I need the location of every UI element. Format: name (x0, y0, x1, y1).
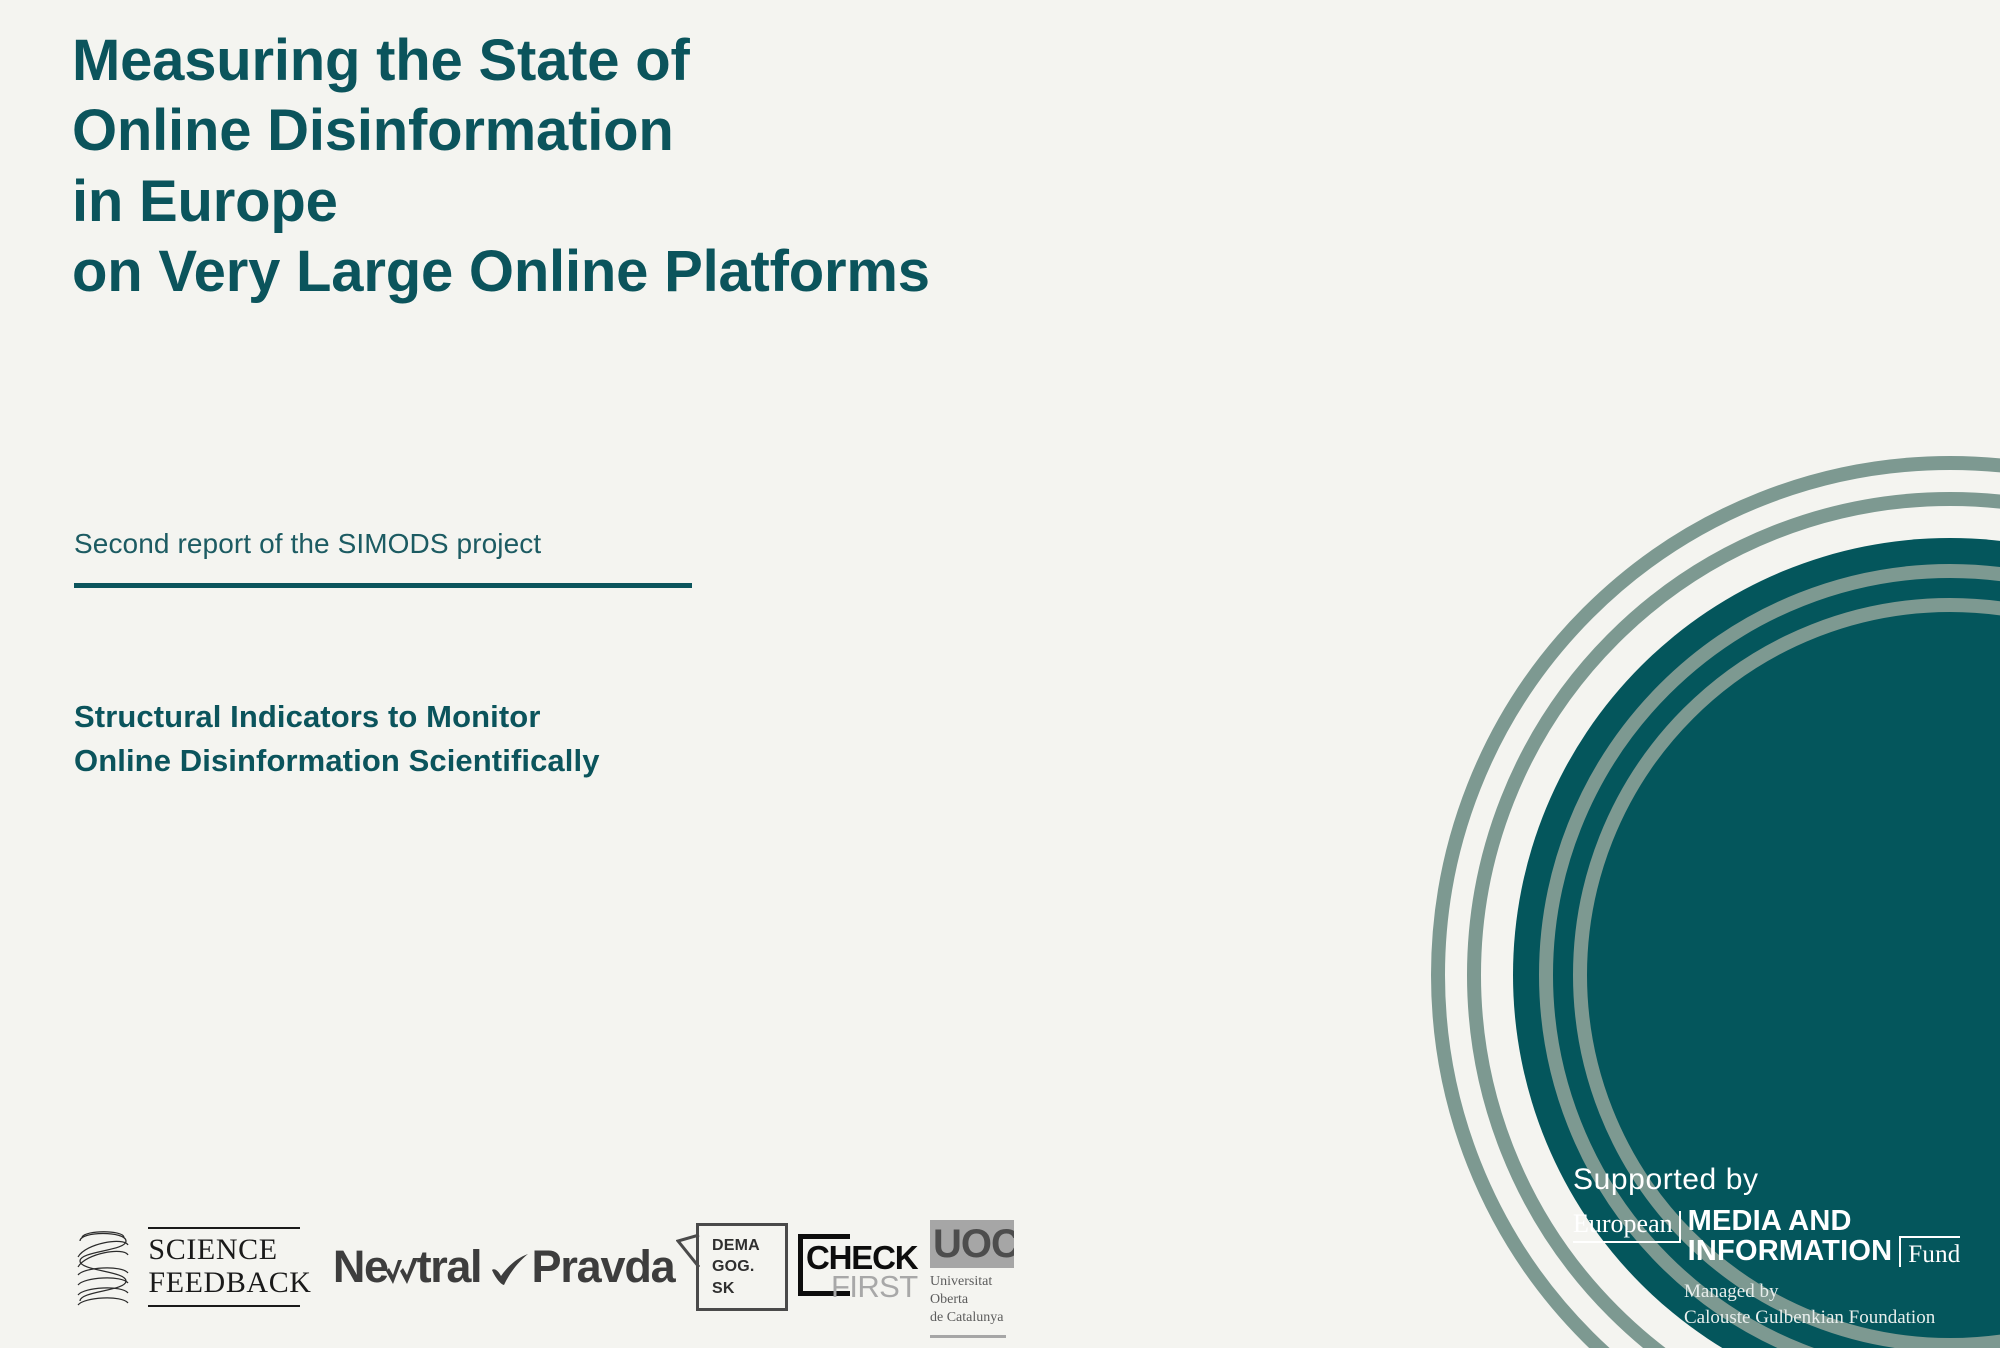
demagog-speech-box: DEMA GOG. SK (696, 1223, 788, 1311)
report-divider-rule (74, 583, 692, 588)
uoc-line-2: Oberta (930, 1291, 1022, 1309)
checkfirst-line-2: FIRST (831, 1269, 918, 1305)
title-line-4: on Very Large Online Platforms (72, 237, 1222, 307)
uoc-fullname: Universitat Oberta de Catalunya (930, 1273, 1022, 1327)
pravda-text: Pravda (532, 1241, 675, 1293)
managed-by-block: Managed by Calouste Gulbenkian Foundatio… (1562, 1279, 1982, 1330)
sf-line-2: FEEDBACK (148, 1267, 311, 1299)
emif-european: European (1573, 1211, 1681, 1243)
report-label: Second report of the SIMODS project (74, 527, 694, 561)
demagog-wordmark: DEMA GOG. SK (712, 1235, 760, 1298)
check-swoosh-icon (492, 1254, 530, 1286)
speech-bubble-icon (676, 1234, 700, 1270)
emif-main: MEDIA AND INFORMATION Fund (1688, 1206, 1961, 1267)
report-cover-page: Measuring the State of Online Disinforma… (0, 0, 2000, 1348)
subtitle-line-1: Structural Indicators to Monitor (74, 695, 974, 739)
sf-rule-bottom (148, 1305, 300, 1307)
newtral-wordmark: Ne tral (333, 1241, 481, 1293)
uoc-rule (930, 1335, 1006, 1338)
demagog-line-3: SK (712, 1278, 760, 1299)
logo-newtral: Ne tral (322, 1208, 492, 1326)
uoc-line-3: de Catalunya (930, 1309, 1022, 1327)
sf-line-1: SCIENCE (148, 1234, 311, 1266)
title-line-1: Measuring the State of (72, 26, 1222, 96)
demagog-line-2: GOG. (712, 1256, 760, 1277)
emif-media-and: MEDIA AND (1688, 1206, 1961, 1236)
supported-by-block: Supported by European MEDIA AND INFORMAT… (1562, 1163, 1982, 1330)
report-label-block: Second report of the SIMODS project (74, 527, 694, 588)
emif-logo: European MEDIA AND INFORMATION Fund (1562, 1206, 1982, 1267)
emif-row-2: INFORMATION Fund (1688, 1236, 1961, 1267)
subtitle-block: Structural Indicators to Monitor Online … (74, 695, 974, 783)
newtral-part-2: tral (417, 1241, 481, 1293)
science-feedback-wordmark: SCIENCE FEEDBACK (148, 1227, 311, 1307)
title-block: Measuring the State of Online Disinforma… (72, 26, 1222, 308)
title-line-3: in Europe (72, 167, 1222, 237)
emif-fund: Fund (1899, 1236, 1960, 1267)
pravda-wordmark: Pravda (492, 1241, 675, 1293)
checkfirst-wordmark: CHECK FIRST (798, 1230, 922, 1304)
logo-uoc: UOC Universitat Oberta de Catalunya (930, 1208, 1022, 1326)
page-title: Measuring the State of Online Disinforma… (72, 26, 1222, 308)
sf-rule-top (148, 1227, 300, 1229)
helix-mark-icon (72, 1225, 134, 1309)
emif-information: INFORMATION (1688, 1236, 1893, 1266)
logo-demagog-sk: DEMA GOG. SK (674, 1208, 790, 1326)
managed-by-label: Managed by (1684, 1279, 1982, 1304)
subtitle-line-2: Online Disinformation Scientifically (74, 739, 974, 783)
double-check-icon (385, 1256, 419, 1286)
newtral-part-1: Ne (333, 1241, 388, 1293)
uoc-wordmark: UOC Universitat Oberta de Catalunya (930, 1220, 1022, 1338)
logo-checkfirst: CHECK FIRST (790, 1208, 930, 1326)
uoc-line-1: Universitat (930, 1273, 1022, 1291)
managed-by-foundation: Calouste Gulbenkian Foundation (1684, 1305, 1982, 1330)
partner-logo-strip: SCIENCE FEEDBACK Ne tral Pravd (62, 1206, 1022, 1326)
supported-by-label: Supported by (1562, 1163, 1982, 1197)
demagog-line-1: DEMA (712, 1235, 760, 1256)
logo-science-feedback: SCIENCE FEEDBACK (62, 1208, 322, 1326)
logo-pravda: Pravda (492, 1208, 674, 1326)
uoc-mark: UOC (930, 1220, 1014, 1268)
title-line-2: Online Disinformation (72, 96, 1222, 166)
